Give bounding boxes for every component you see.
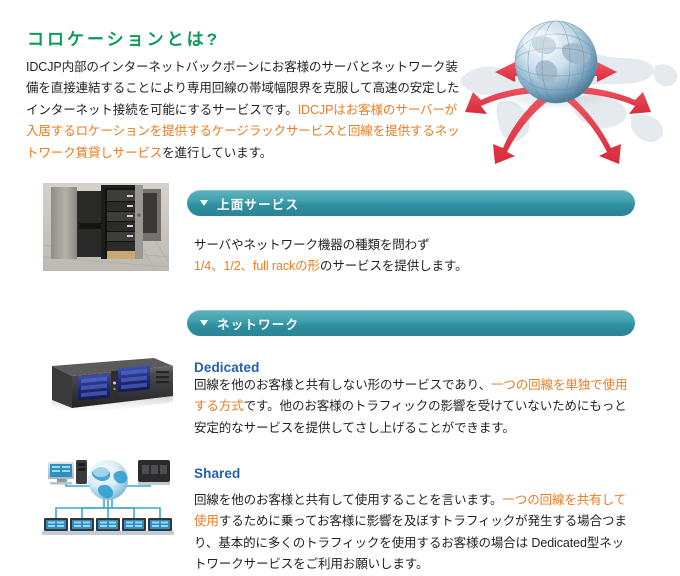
chevron-down-icon	[200, 320, 208, 326]
rackmount-server-photo	[42, 352, 175, 424]
text-run: 回線を他のお客様と共有しない形のサービスであり、	[194, 378, 491, 392]
chevron-down-icon	[200, 200, 208, 206]
text-run: 回線を他のお客様と共有して使用することを言います。	[194, 493, 502, 507]
text-run: のサービスを提供します。	[320, 259, 468, 273]
section-header-label: ネットワーク	[217, 314, 299, 333]
rack-node	[138, 460, 170, 485]
intro-paragraph: IDCJP内部のインターネットバックボーンにお客様のサーバとネットワーク装備を直…	[26, 57, 466, 165]
globe-node	[88, 460, 128, 500]
subsection-heading-dedicated: Dedicated	[194, 360, 259, 375]
text-run: するために乗ってお客様に影響を及ぼすトラフィックが発生する場合つまり、基本的に多…	[194, 514, 627, 571]
section-header-label: 上面サービス	[217, 194, 299, 213]
globe-arrows-illustration	[455, 6, 680, 171]
network-topology-illustration	[38, 452, 178, 540]
page-title: コロケーションとは?	[27, 25, 220, 50]
subsection-heading-shared: Shared	[194, 466, 240, 481]
upper-service-description: サーバやネットワーク機器の種類を問わず1/4、1/2、full rackの形のサ…	[194, 235, 634, 278]
text-run: を進行しています。	[162, 146, 272, 160]
shared-description: 回線を他のお客様と共有して使用することを言います。一つの回線を共有して使用するた…	[194, 490, 636, 576]
datacenter-rack-photo	[43, 183, 169, 271]
text-run: です。他のお客様のトラフィックの影響を受けていないためにもっと安定的なサービスを…	[194, 399, 627, 435]
highlighted-text-run: 1/4、1/2、full rackの形	[194, 259, 320, 273]
section-header-upper-service[interactable]: 上面サービス	[187, 190, 635, 216]
globe-sphere	[515, 21, 597, 103]
text-run: サーバやネットワーク機器の種類を問わず	[194, 238, 429, 252]
section-header-network[interactable]: ネットワーク	[187, 310, 635, 336]
laptop-row	[42, 518, 174, 535]
dedicated-description: 回線を他のお客様と共有しない形のサービスであり、一つの回線を単独で使用する方式で…	[194, 375, 634, 440]
